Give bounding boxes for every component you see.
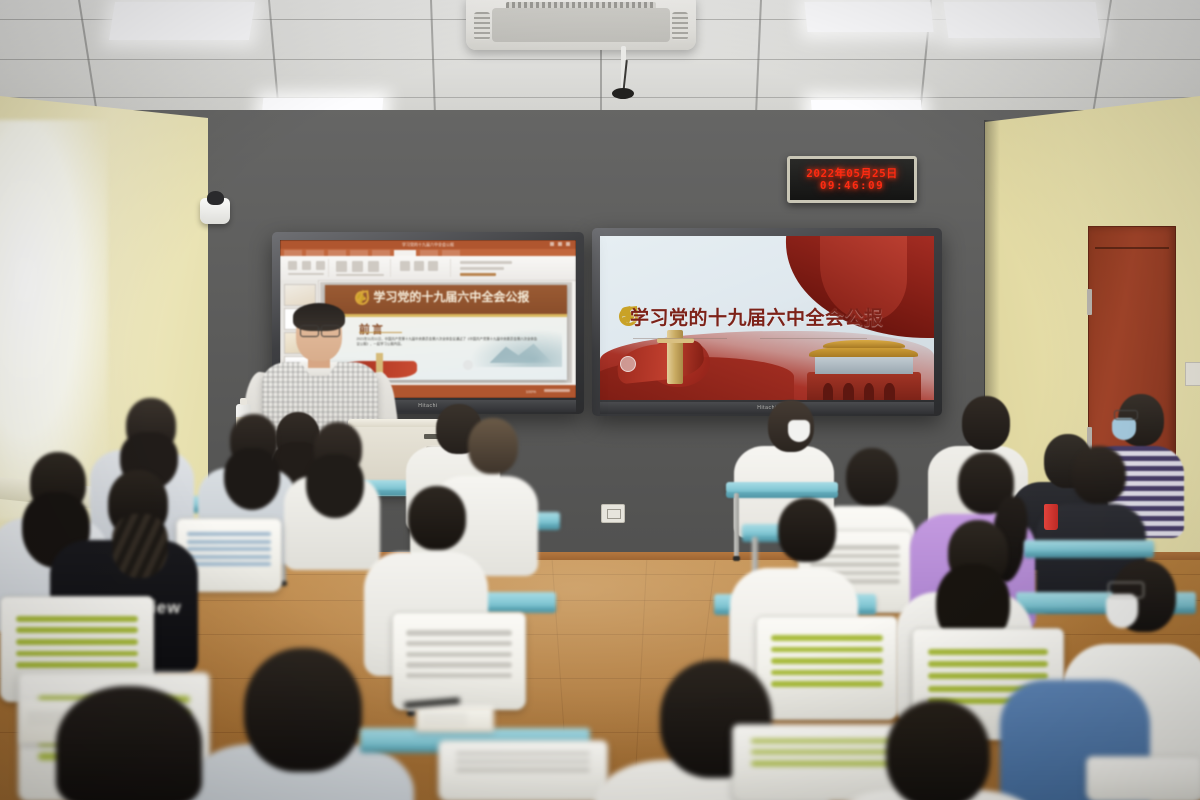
- slide-section-heading: 前言: [359, 321, 385, 337]
- student-desk: [1024, 540, 1154, 553]
- classroom-photo: 2022年05月25日 09:46:09: [0, 0, 1200, 800]
- face-mask: [1106, 594, 1138, 628]
- student-chair: [392, 612, 524, 708]
- party-emblem-icon-left: [354, 289, 370, 305]
- powerpoint-doc-title: 学习党的十九届六中全会公报: [402, 242, 454, 248]
- ceiling-light-panel: [943, 2, 1100, 38]
- student-chair: [1086, 756, 1200, 800]
- ceiling-microphone: [612, 88, 634, 99]
- student-chair: [756, 616, 896, 718]
- door-hinge: [1087, 289, 1092, 315]
- student-desk: [726, 482, 838, 493]
- braid: [112, 514, 168, 578]
- eyeglasses: [1108, 582, 1144, 598]
- light-switch[interactable]: [1185, 362, 1200, 386]
- slide-body-text: 2021年11月11日，中国共产党第十九届中央委员会第六次全体会议通过了《中国共…: [356, 337, 540, 348]
- panel-brand-left: Hitachi: [418, 403, 437, 409]
- surveillance-camera: [200, 198, 230, 224]
- cassette-air-conditioner: [466, 0, 696, 50]
- ceiling-light-panel: [804, 2, 933, 32]
- student-chair: [732, 724, 910, 800]
- slide-right: 学习党的十九届六中全会公报: [600, 236, 934, 400]
- powerpoint-ribbon[interactable]: [280, 256, 576, 281]
- student-chair: [438, 740, 606, 800]
- led-clock-time: 09:46:09: [820, 180, 884, 192]
- teacher-glasses: [300, 325, 319, 337]
- slide-title-right: 学习党的十九届六中全会公报: [630, 303, 884, 330]
- ac-vent-left: [474, 12, 490, 40]
- interactive-flat-panel-right[interactable]: 学习党的十九届六中全会公报 Hitachi: [592, 228, 942, 416]
- teacher-glasses: [321, 325, 340, 337]
- powerpoint-ribbon-tabs[interactable]: [280, 249, 576, 256]
- notebook: [416, 706, 494, 732]
- drink-cup: [1044, 504, 1058, 530]
- powerpoint-titlebar: 学习党的十九届六中全会公报: [280, 240, 576, 249]
- face-mask: [788, 420, 810, 442]
- face-mask: [1112, 418, 1136, 440]
- slide-title-left: 学习党的十九届六中全会公报: [373, 288, 529, 305]
- led-clock-date: 2022年05月25日: [806, 168, 897, 180]
- ac-vent-right: [672, 12, 688, 40]
- ac-diffuser: [492, 8, 670, 42]
- wall-power-outlet: [601, 504, 625, 523]
- wall-led-clock: 2022年05月25日 09:46:09: [787, 156, 917, 203]
- ceiling-light-panel: [109, 2, 255, 40]
- eyeglasses: [1114, 410, 1138, 420]
- slide-watermark-dot-left: [463, 360, 473, 370]
- tiananmen-gate-icon: [807, 334, 921, 400]
